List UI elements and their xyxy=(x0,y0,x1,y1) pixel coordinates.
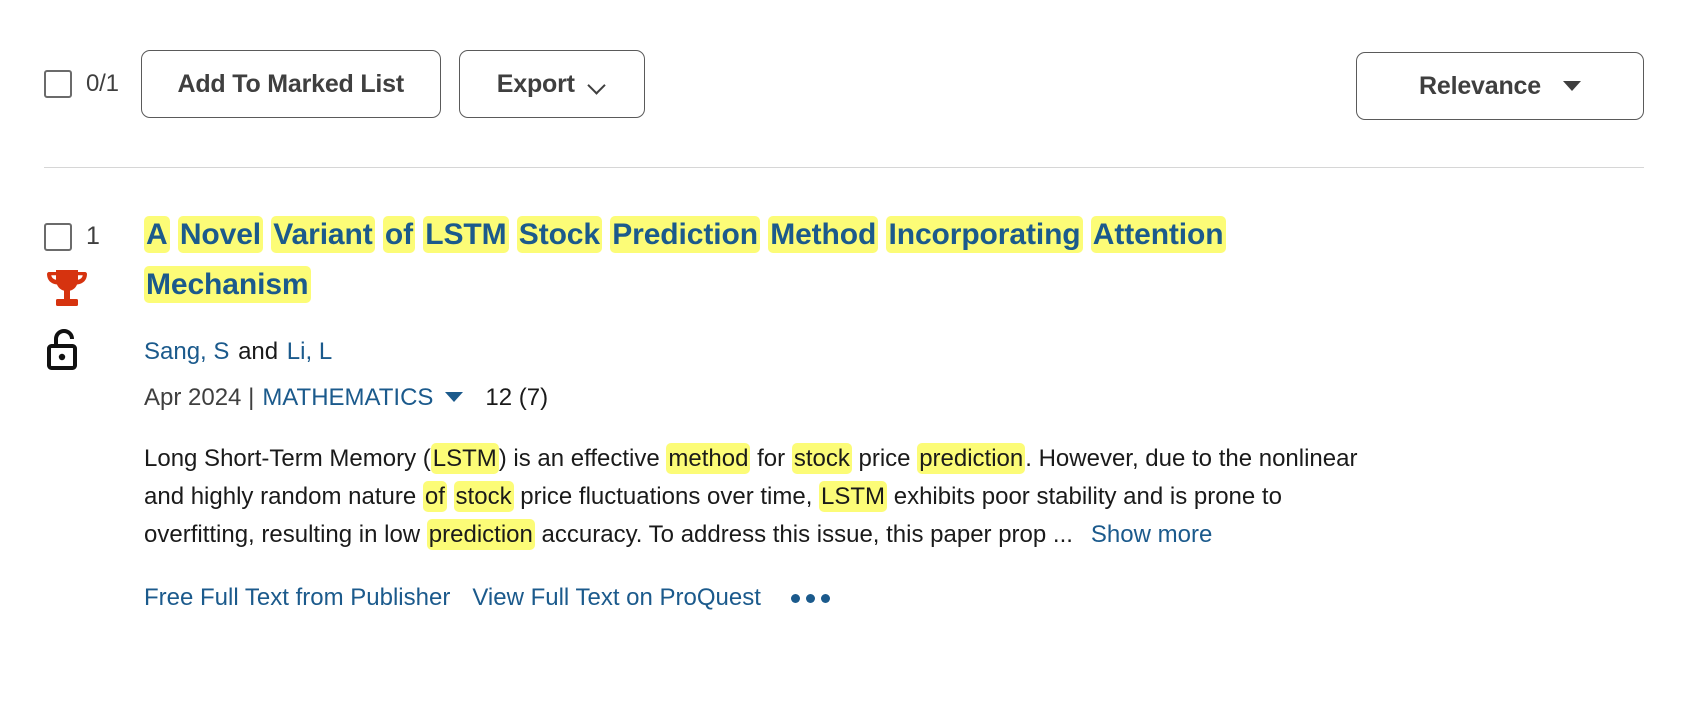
text-run: accuracy. To address this issue, this pa… xyxy=(535,521,1073,548)
free-full-text-link[interactable]: Free Full Text from Publisher xyxy=(144,582,450,614)
record-metadata: Apr 2024 | MATHEMATICS 12 (7) xyxy=(144,382,1644,414)
record-abstract: Long Short-Term Memory (LSTM) is an effe… xyxy=(144,440,1394,554)
text-run: Long Short-Term Memory ( xyxy=(144,445,431,472)
record-select-row: 1 xyxy=(44,222,144,251)
author-link[interactable]: Li, L xyxy=(287,338,332,365)
text-run xyxy=(760,218,768,251)
text-run xyxy=(602,218,610,251)
highlighted-term: LSTM xyxy=(431,443,499,474)
author-conjunction: and xyxy=(236,338,280,365)
text-run xyxy=(509,218,517,251)
highlighted-term: prediction xyxy=(427,519,535,550)
sort-by-button[interactable]: Relevance xyxy=(1356,52,1644,120)
highlighted-term: A xyxy=(144,216,170,253)
text-run xyxy=(170,218,178,251)
highlighted-term: Variant xyxy=(271,216,374,253)
text-run: price fluctuations over time, xyxy=(514,483,819,510)
select-all-checkbox[interactable] xyxy=(44,70,72,98)
text-run: price xyxy=(852,445,917,472)
show-more-link[interactable]: Show more xyxy=(1091,521,1212,548)
toolbar-right-group: Relevance xyxy=(1356,52,1644,120)
toolbar-left-group: 0/1 Add To Marked List Export xyxy=(44,50,645,118)
highlighted-term: Stock xyxy=(517,216,602,253)
text-run: for xyxy=(750,445,791,472)
highlighted-term: prediction xyxy=(917,443,1025,474)
highlighted-term: LSTM xyxy=(423,216,508,253)
author-link[interactable]: Sang, S xyxy=(144,338,229,365)
export-button[interactable]: Export xyxy=(459,50,645,118)
view-full-text-proquest-link[interactable]: View Full Text on ProQuest xyxy=(472,582,761,614)
record-links: Free Full Text from Publisher View Full … xyxy=(144,582,1644,614)
journal-caret-down-icon[interactable] xyxy=(445,392,463,402)
highlighted-term: stock xyxy=(454,481,514,512)
highlighted-term: of xyxy=(383,216,415,253)
caret-down-icon xyxy=(1563,81,1581,91)
result-record-1: 1 A Nov xyxy=(44,208,1644,614)
search-results-page: 0/1 Add To Marked List Export Relevance … xyxy=(0,0,1688,724)
record-body: A Novel Variant of LSTM Stock Prediction… xyxy=(144,208,1644,614)
record-checkbox[interactable] xyxy=(44,223,72,251)
highlighted-term: Attention xyxy=(1091,216,1226,253)
ellipsis-icon[interactable] xyxy=(791,594,830,603)
selected-count-label: 0/1 xyxy=(86,70,119,98)
text-run xyxy=(375,218,383,251)
highlighted-term: LSTM xyxy=(819,481,887,512)
results-toolbar: 0/1 Add To Marked List Export Relevance xyxy=(0,0,1688,168)
highlighted-term: Mechanism xyxy=(144,266,311,303)
text-run xyxy=(1083,218,1091,251)
highlighted-term: stock xyxy=(792,443,852,474)
text-run: ) is an effective xyxy=(499,445,667,472)
export-button-label: Export xyxy=(497,70,575,99)
highlighted-term: Incorporating xyxy=(886,216,1082,253)
publication-date: Apr 2024 | xyxy=(144,382,254,414)
toolbar-divider xyxy=(44,167,1644,168)
record-title-link[interactable]: A Novel Variant of LSTM Stock Prediction… xyxy=(144,210,1344,310)
record-gutter: 1 xyxy=(44,208,144,614)
record-authors: Sang, S and Li, L xyxy=(144,336,1644,368)
highlighted-term: of xyxy=(423,481,447,512)
citation-count: 12 (7) xyxy=(485,382,548,414)
open-padlock-icon xyxy=(46,328,144,375)
text-run xyxy=(447,483,454,510)
trophy-icon xyxy=(45,267,144,314)
sort-by-label: Relevance xyxy=(1419,72,1541,101)
record-index-label: 1 xyxy=(86,222,100,251)
journal-name-link[interactable]: MATHEMATICS xyxy=(262,382,433,414)
highlighted-term: method xyxy=(666,443,750,474)
highlighted-term: Novel xyxy=(178,216,263,253)
highlighted-term: Prediction xyxy=(610,216,760,253)
chevron-down-icon xyxy=(589,79,607,89)
add-to-marked-list-button[interactable]: Add To Marked List xyxy=(141,50,441,118)
highlighted-term: Method xyxy=(768,216,878,253)
